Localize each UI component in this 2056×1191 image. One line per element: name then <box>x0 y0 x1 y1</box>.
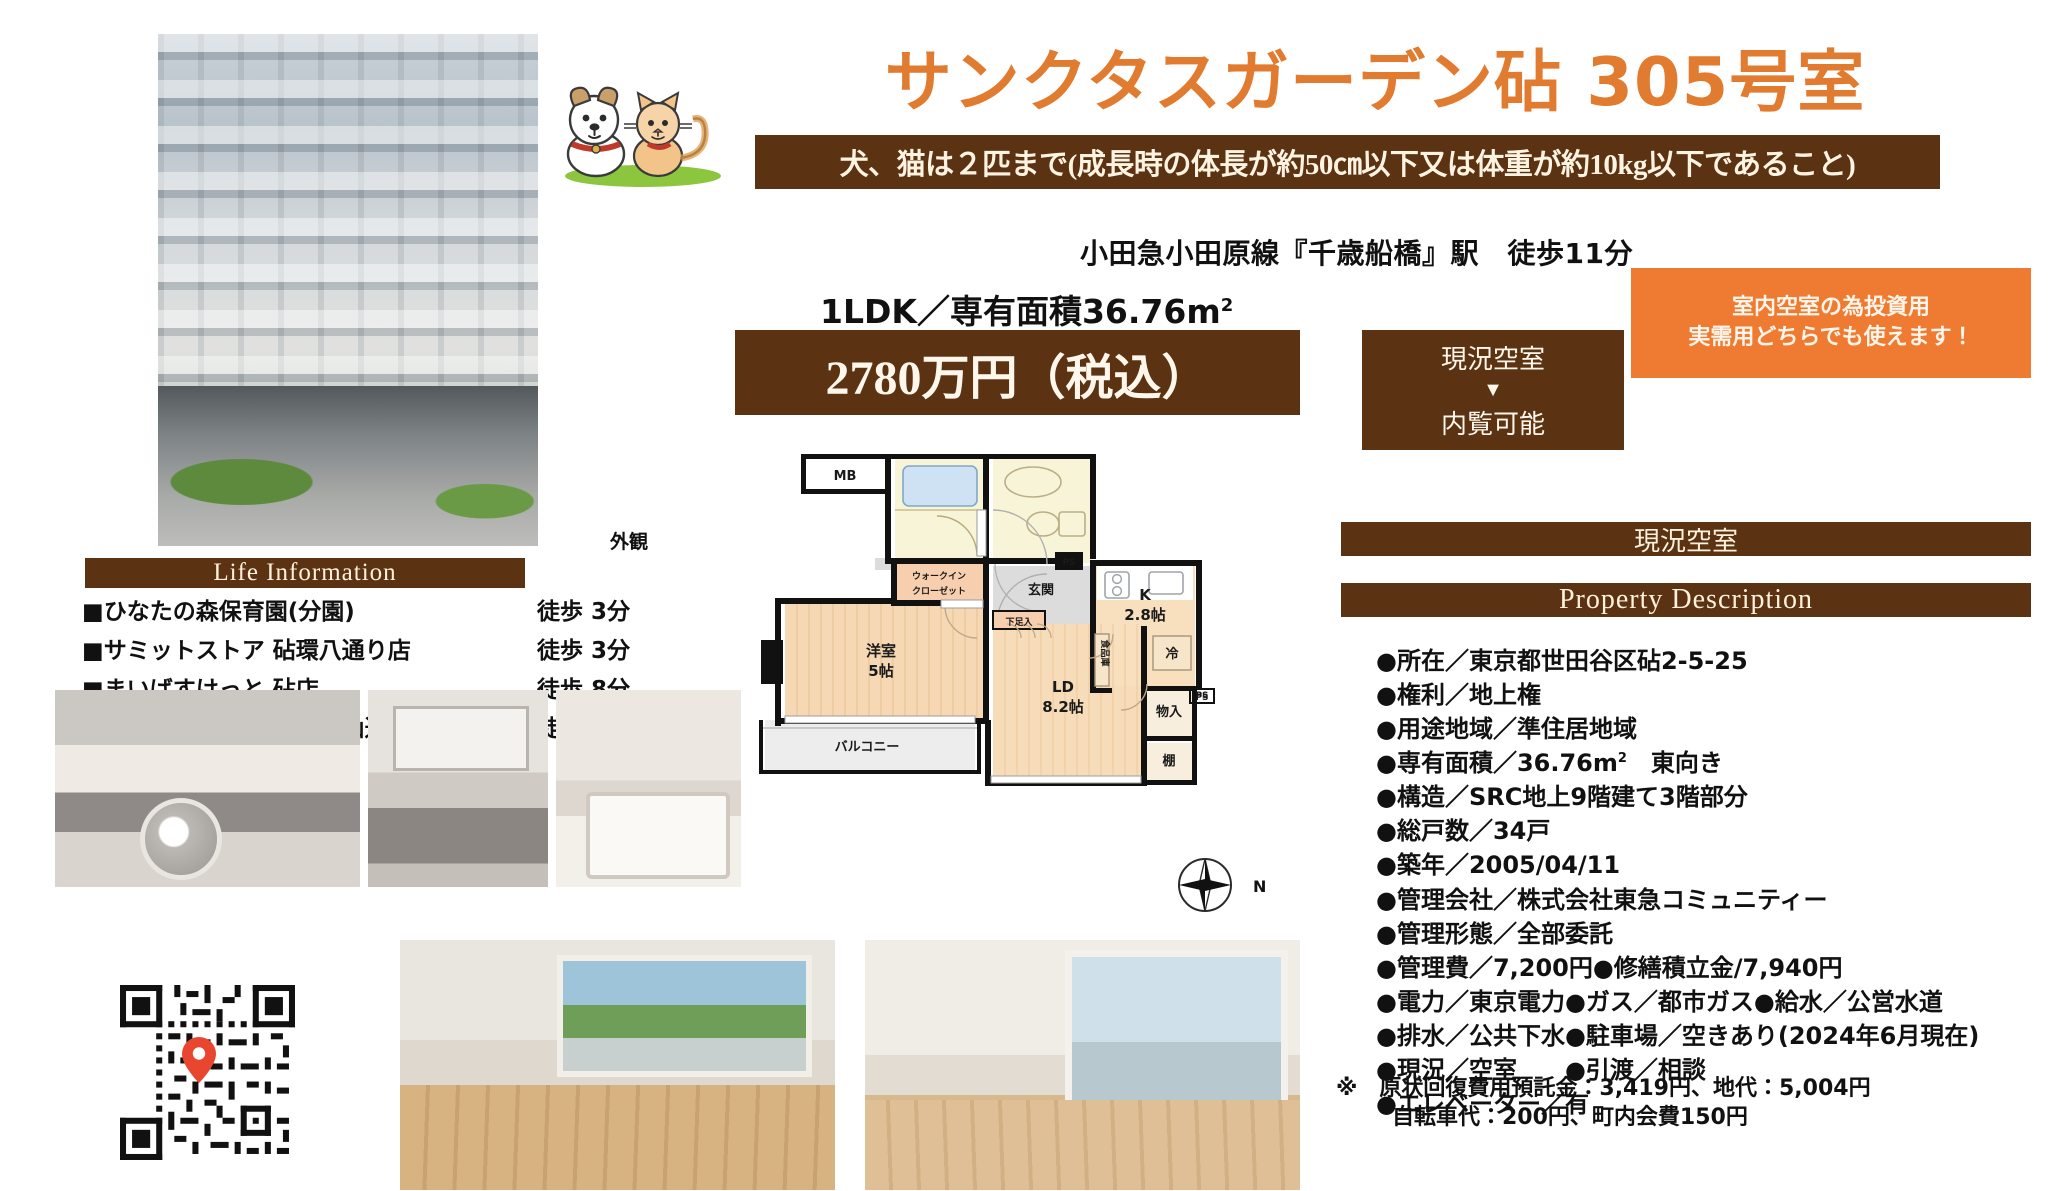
life-information-header: Life Information <box>85 558 525 588</box>
property-item-location: ●所在／東京都世田谷区砧2-5-25 <box>1376 644 2056 678</box>
kitchen-photo <box>55 690 360 887</box>
price-box: 2780万円（税込） <box>735 330 1300 415</box>
fp-label-storage: 物入 <box>1156 704 1183 720</box>
down-arrow-icon: ▼ <box>1483 380 1503 400</box>
layout-area-text: 1LDK／専有面積36.76m2 <box>820 285 1233 333</box>
property-item-zoning: ●用途地域／準住居地域 <box>1376 712 2056 746</box>
fp-label-ld-size: 8.2帖 <box>1042 698 1084 716</box>
pets-illustration <box>548 78 738 188</box>
station-access-text: 小田急小田原線『千歳船橋』駅 徒歩11分 <box>1080 232 1633 272</box>
layout-area-main: 1LDK／専有面積36.76m <box>820 292 1221 331</box>
exterior-photo-label: 外観 <box>610 527 648 554</box>
investment-badge: 室内空室の為投資用 実需用どちらでも使えます！ <box>1631 268 2031 378</box>
fp-label-kitchen: K <box>1139 586 1152 604</box>
fp-label-bedroom: 洋室 <box>866 642 896 660</box>
investment-badge-line2: 実需用どちらでも使えます！ <box>1688 323 1973 353</box>
life-item-name: ■ひなたの森保育園(分園) <box>82 592 537 626</box>
exterior-photo <box>158 34 538 546</box>
fp-label-wic-1: ウォークイン <box>912 571 966 582</box>
property-item-drainage-parking: ●排水／公共下水●駐車場／空きあり(2024年6月現在) <box>1376 1019 2056 1053</box>
property-note: ※ 原状回復費用預託金：3,419円、地代：5,004円 自転車代：200円、町… <box>1336 1075 2048 1132</box>
qr-code[interactable] <box>120 985 295 1160</box>
property-item-mgmt-company: ●管理会社／株式会社東急コミュニティー <box>1376 883 2056 917</box>
vacancy-status-label: 現況空室 <box>1441 339 1545 376</box>
floor-plan: MB PS ウォークイン クローゼット 玄関 下足入 K 2.8帖 冷 食品庫 … <box>745 448 1290 838</box>
page-title: サンクタスガーデン砧 305号室 <box>820 28 1930 125</box>
fp-label-wic-2: クローゼット <box>912 585 966 597</box>
bedroom-photo <box>865 940 1300 1190</box>
investment-badge-line1: 室内空室の為投資用 <box>1732 293 1930 323</box>
pet-policy-banner: 犬、猫は２匹まで(成長時の体長が約50㎝以下又は体重が約10kg以下であること) <box>755 135 1940 189</box>
fp-label-ld: LD <box>1052 678 1074 696</box>
viewing-available-label: 内覧可能 <box>1441 404 1545 441</box>
life-item: ■ひなたの森保育園(分園) 徒歩 3分 <box>82 592 702 626</box>
life-item-time: 徒歩 3分 <box>537 631 630 665</box>
property-note-line1: ※ 原状回復費用預託金：3,419円、地代：5,004円 <box>1336 1076 1871 1101</box>
property-area-prefix: ●専有面積／36.76m <box>1376 749 1618 777</box>
property-item-utilities: ●電力／東京電力●ガス／都市ガス●給水／公営水道 <box>1376 985 2056 1019</box>
life-item: ■サミットストア 砧環八通り店 徒歩 3分 <box>82 631 702 665</box>
property-description-header: Property Description <box>1341 583 2031 617</box>
property-description-list: ●所在／東京都世田谷区砧2-5-25 ●権利／地上権 ●用途地域／準住居地域 ●… <box>1336 644 2056 1121</box>
property-item-units: ●総戸数／34戸 <box>1376 814 2056 848</box>
property-note-line2: 自転車代：200円、町内会費150円 <box>1336 1104 2048 1133</box>
qr-code-matrix <box>120 985 295 1160</box>
fp-label-kitchen-size: 2.8帖 <box>1124 606 1166 624</box>
status-bar: 現況空室 <box>1341 522 2031 556</box>
fp-label-shoebox: 下足入 <box>1005 617 1033 628</box>
fp-label-ps-top: PS <box>1062 558 1075 568</box>
compass-north-label: N <box>1253 877 1266 896</box>
property-item-rights: ●権利／地上権 <box>1376 678 2056 712</box>
property-item-fees: ●管理費／7,200円●修繕積立金/7,940円 <box>1376 951 2056 985</box>
life-item-time: 徒歩 3分 <box>537 592 630 626</box>
life-item-name: ■サミットストア 砧環八通り店 <box>82 631 537 665</box>
property-area-sup: 2 <box>1618 751 1627 766</box>
fp-label-ps-right-text: PS <box>1195 693 1208 703</box>
vacancy-viewing-box: 現況空室 ▼ 内覧可能 <box>1362 330 1624 450</box>
fp-label-balcony: バルコニー <box>835 740 900 755</box>
property-area-suffix: 東向き <box>1627 749 1723 777</box>
fp-label-fridge: 冷 <box>1165 646 1179 662</box>
vanity-photo <box>368 690 548 887</box>
layout-area-sup: 2 <box>1221 295 1234 316</box>
fp-label-bedroom-size: 5帖 <box>868 662 893 680</box>
property-item-structure: ●構造／SRC地上9階建て3階部分 <box>1376 780 2056 814</box>
living-room-photo <box>400 940 835 1190</box>
fp-label-pantry: 食品庫 <box>1099 638 1111 666</box>
fp-label-mb: MB <box>834 469 857 484</box>
fp-label-genkan: 玄関 <box>1028 582 1054 598</box>
property-item-mgmt-type: ●管理形態／全部委託 <box>1376 917 2056 951</box>
property-item-area: ●専有面積／36.76m2 東向き <box>1376 746 2056 780</box>
bathroom-photo <box>556 690 741 887</box>
fp-label-shelf: 棚 <box>1162 753 1175 769</box>
property-item-builtyear: ●築年／2005/04/11 <box>1376 848 2056 882</box>
compass-icon: N <box>1175 855 1267 915</box>
